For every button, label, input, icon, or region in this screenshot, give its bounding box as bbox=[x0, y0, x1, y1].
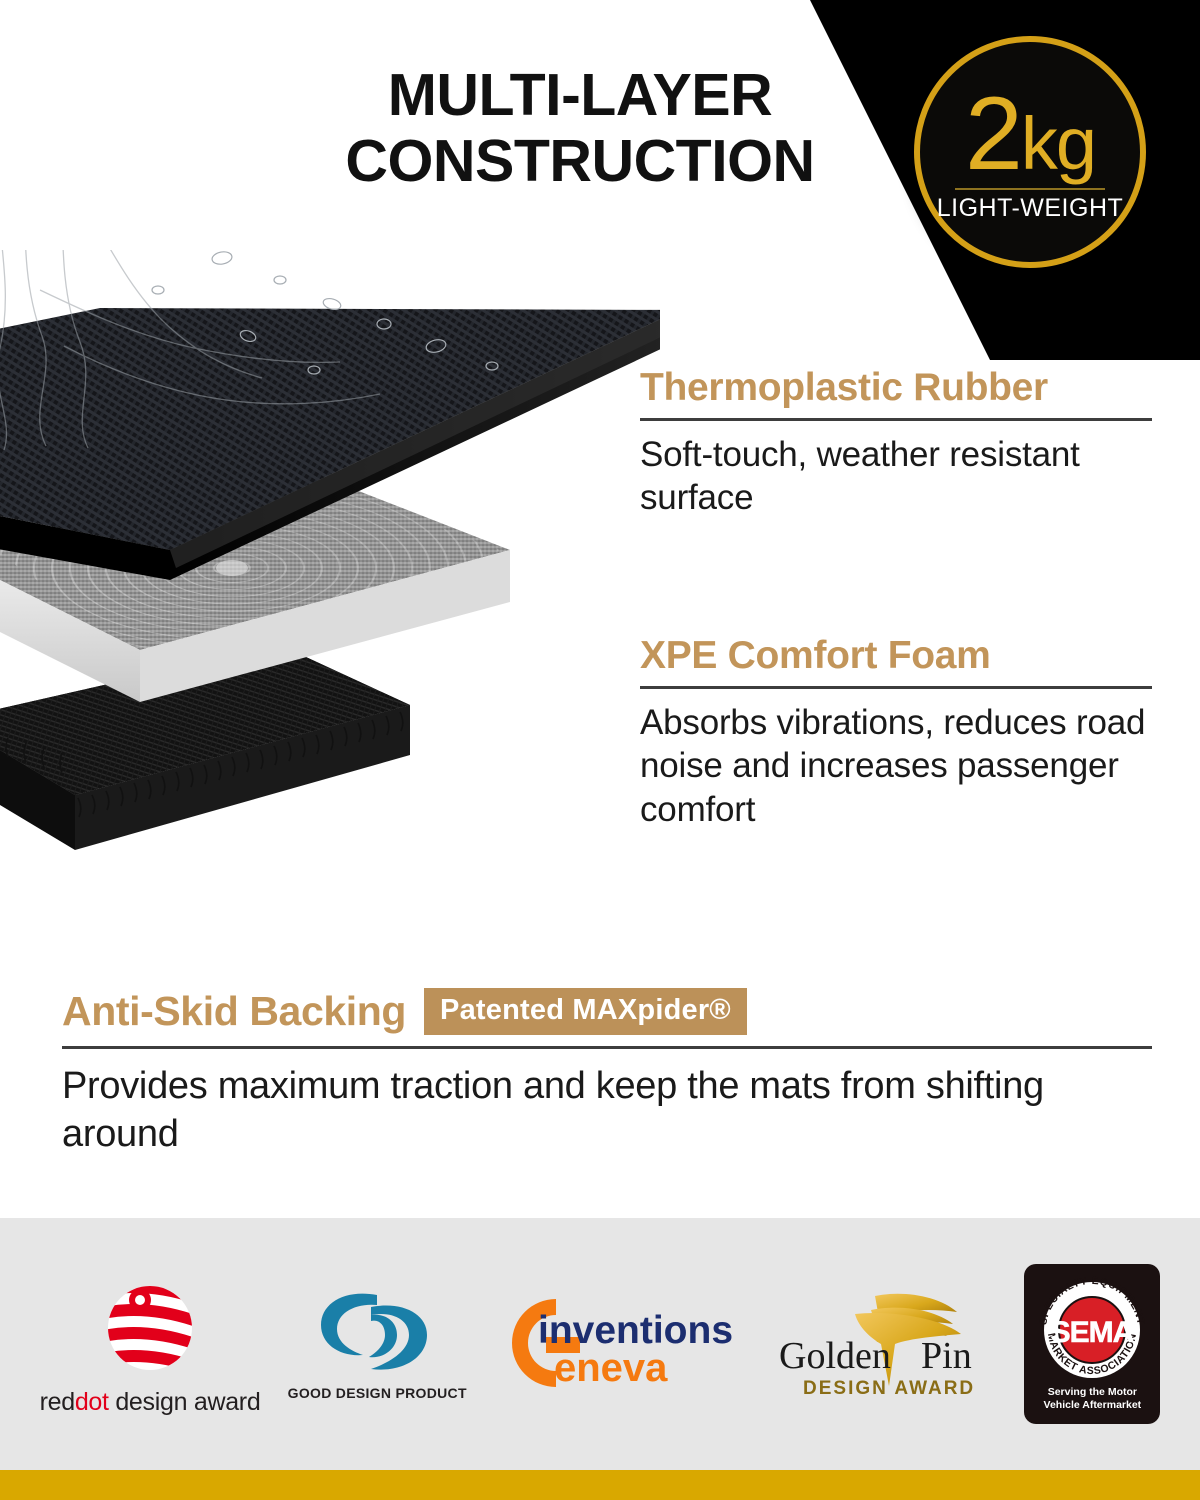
feature-body: Soft-touch, weather resistant surface bbox=[640, 433, 1152, 520]
feature-anti-skid-backing: Anti-Skid Backing Patented MAXpider® Pro… bbox=[62, 988, 1152, 1158]
reddot-caption-post: design award bbox=[109, 1388, 261, 1416]
golden-pin-subtitle: DESIGN AWARD bbox=[803, 1378, 975, 1398]
badge-caption: LIGHT-WEIGHT bbox=[937, 194, 1124, 223]
inventions-geneva-logo: inventions eneva bbox=[494, 1293, 744, 1395]
award-golden-pin-design-award: Golden Pin DESIGN AWARD bbox=[771, 1290, 997, 1398]
feature-title: Anti-Skid Backing bbox=[62, 988, 406, 1035]
pin-word: Pin bbox=[921, 1335, 972, 1377]
page-title: MULTI-LAYER CONSTRUCTION bbox=[300, 62, 860, 194]
award-sema: SPECIALTY EQUIPMENT MARKET ASSOCIATION S… bbox=[1024, 1264, 1160, 1424]
award-caption: reddot design award bbox=[40, 1388, 261, 1417]
feature-body: Absorbs vibrations, reduces road noise a… bbox=[640, 701, 1152, 831]
feature-divider bbox=[62, 1046, 1152, 1049]
award-reddot-design-award: reddot design award bbox=[40, 1272, 261, 1417]
feature-divider bbox=[640, 686, 1152, 689]
award-caption: GOOD DESIGN PRODUCT bbox=[288, 1385, 467, 1401]
headline-line-1: MULTI-LAYER bbox=[300, 62, 860, 128]
weight-unit: kg bbox=[1021, 110, 1095, 178]
award-good-design-product: GOOD DESIGN PRODUCT bbox=[288, 1287, 467, 1401]
feature-title: Thermoplastic Rubber bbox=[640, 368, 1152, 409]
reddot-caption-pre: red bbox=[40, 1388, 75, 1416]
reddot-caption-accent: dot bbox=[75, 1388, 109, 1416]
sema-logo: SPECIALTY EQUIPMENT MARKET ASSOCIATION S… bbox=[1024, 1264, 1160, 1424]
good-design-gd-icon bbox=[315, 1287, 439, 1383]
anti-skid-header: Anti-Skid Backing Patented MAXpider® bbox=[62, 988, 1152, 1035]
svg-text:SEMA: SEMA bbox=[1051, 1316, 1134, 1349]
sema-caption: Serving the Motor Vehicle Aftermarket bbox=[1044, 1386, 1142, 1412]
patented-maxpider-badge: Patented MAXpider® bbox=[424, 988, 747, 1035]
sema-caption-line-2: Vehicle Aftermarket bbox=[1044, 1399, 1142, 1412]
sema-caption-line-1: Serving the Motor bbox=[1044, 1386, 1142, 1399]
weight-value-group: 2kg bbox=[965, 87, 1095, 183]
award-inventions-geneva: inventions eneva bbox=[494, 1293, 744, 1395]
awards-footer: reddot design award GOOD DESIGN PRODUCT … bbox=[0, 1218, 1200, 1470]
golden-word: Golden bbox=[779, 1335, 891, 1377]
headline-line-2: CONSTRUCTION bbox=[300, 128, 860, 194]
feature-xpe-comfort-foam: XPE Comfort Foam Absorbs vibrations, red… bbox=[640, 636, 1152, 831]
feature-title: XPE Comfort Foam bbox=[640, 636, 1152, 677]
feature-body: Provides maximum traction and keep the m… bbox=[62, 1063, 1152, 1158]
bottom-accent-bar bbox=[0, 1470, 1200, 1500]
badge-divider bbox=[955, 188, 1105, 190]
weight-number: 2 bbox=[965, 87, 1021, 183]
feature-divider bbox=[640, 418, 1152, 421]
product-layers-illustration bbox=[0, 250, 660, 970]
eneva-word: eneva bbox=[554, 1346, 668, 1390]
sema-seal-icon: SPECIALTY EQUIPMENT MARKET ASSOCIATION S… bbox=[1034, 1272, 1150, 1384]
golden-pin-logo: Golden Pin DESIGN AWARD bbox=[771, 1290, 997, 1398]
feature-thermoplastic-rubber: Thermoplastic Rubber Soft-touch, weather… bbox=[640, 368, 1152, 520]
weight-badge: 2kg LIGHT-WEIGHT bbox=[914, 36, 1146, 268]
reddot-sphere-icon bbox=[94, 1272, 206, 1384]
